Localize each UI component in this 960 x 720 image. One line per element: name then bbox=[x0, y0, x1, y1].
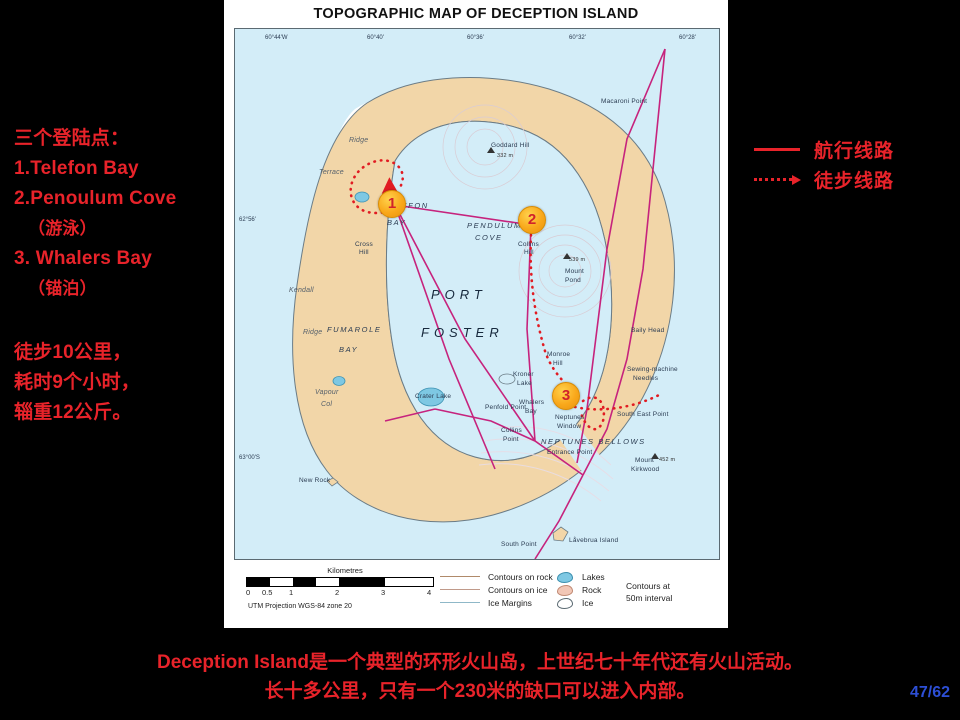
legend-label-hiking: 徒步线路 bbox=[814, 166, 894, 193]
ice-blob-icon bbox=[556, 597, 574, 608]
legend-entry-lakes: Lakes bbox=[556, 570, 605, 583]
map-panel: TOPOGRAPHIC MAP OF DECEPTION ISLAND bbox=[224, 0, 728, 628]
scale-tick-3: 2 bbox=[335, 588, 339, 597]
caption-line-1: Deception Island是一个典型的环形火山岛，上世纪七十年代还有火山活… bbox=[0, 648, 960, 677]
map-label: Hill bbox=[359, 249, 369, 256]
legend-row-hiking: 徒步线路 bbox=[752, 164, 952, 194]
map-label: South East Point bbox=[617, 411, 669, 418]
rock-blob-icon bbox=[556, 584, 574, 595]
legend-entry-ice: Ice bbox=[556, 596, 605, 609]
legend-label-contours-rock: Contours on rock bbox=[488, 572, 553, 582]
solid-line-icon bbox=[752, 142, 804, 156]
legend-label-sailing: 航行线路 bbox=[814, 136, 894, 163]
map-label: Collins bbox=[518, 241, 539, 248]
map-label: COVE bbox=[475, 233, 503, 242]
legend-label-ice-margins: Ice Margins bbox=[488, 598, 532, 608]
map-label: Col bbox=[321, 401, 332, 408]
map-label: Låvebrua Island bbox=[569, 537, 618, 544]
legend-label-lakes: Lakes bbox=[582, 572, 605, 582]
map-label: Hill bbox=[553, 360, 563, 367]
map-label: Window bbox=[557, 423, 581, 430]
legend-row-sailing: 航行线路 bbox=[752, 134, 952, 164]
scale-tick-4: 3 bbox=[381, 588, 385, 597]
landing-point-2: 2.Penoulum Cove bbox=[14, 184, 224, 214]
lon-tick-4: 60°28' bbox=[679, 35, 696, 41]
dotted-arrow-icon bbox=[752, 172, 804, 186]
map-label: Kirkwood bbox=[631, 466, 659, 473]
map-label: Mount bbox=[635, 457, 654, 464]
map-label: FUMAROLE bbox=[327, 325, 381, 334]
lon-tick-0: 60°44'W bbox=[265, 35, 288, 41]
lavebrua-island bbox=[553, 527, 568, 541]
contour-ice-line-icon bbox=[440, 589, 480, 590]
lat-tick-0: 62°56' bbox=[239, 217, 256, 223]
map-label: Goddard Hill bbox=[491, 142, 530, 149]
map-label: NEPTUNES BELLOWS bbox=[541, 437, 646, 446]
projection-note: UTM Projection WGS-84 zone 20 bbox=[246, 603, 436, 610]
scale-tick-1: 0.5 bbox=[262, 588, 272, 597]
map-label: Kroner bbox=[513, 371, 534, 378]
map-label: New Rock bbox=[299, 477, 330, 484]
map-label: Macaroni Point bbox=[601, 98, 647, 105]
trek-load: 辎重12公斤。 bbox=[14, 398, 224, 428]
vapour-col-lake bbox=[333, 377, 345, 386]
map-label: 452 m bbox=[659, 457, 675, 463]
landing-point-3: 3. Whalers Bay bbox=[14, 244, 224, 274]
legend-entry-contours-rock: Contours on rock bbox=[440, 570, 553, 583]
telefon-lake bbox=[355, 192, 369, 202]
map-label: Pond bbox=[565, 277, 581, 284]
map-label: Terrace bbox=[319, 169, 344, 176]
legend-label-contours-ice: Contours on ice bbox=[488, 585, 548, 595]
legend-entry-contours-ice: Contours on ice bbox=[440, 583, 553, 596]
landing-points-heading: 三个登陆点： bbox=[14, 124, 224, 154]
legend-symbol-entries: Lakes Rock Ice bbox=[556, 570, 605, 609]
map-legend: Kilometres 0 0.5 1 2 3 4 UTM Projection … bbox=[234, 562, 718, 624]
legend-label-rock: Rock bbox=[582, 585, 601, 595]
lon-tick-2: 60°36' bbox=[467, 35, 484, 41]
scale-tick-0: 0 bbox=[246, 588, 250, 597]
page-number: 47/62 bbox=[910, 684, 950, 702]
contour-note-line2: 50m interval bbox=[626, 592, 672, 604]
landing-marker-3[interactable]: 3 bbox=[552, 382, 580, 410]
map-frame: 60°44'W 60°40' 60°36' 60°32' 60°28' 62°5… bbox=[234, 28, 720, 560]
scale-bar-group: Kilometres 0 0.5 1 2 3 4 UTM Projection … bbox=[246, 566, 436, 610]
map-label: Bay bbox=[525, 408, 537, 415]
map-label: Penfold Point bbox=[485, 404, 526, 411]
map-label: Cross bbox=[355, 241, 373, 248]
map-label: Collins bbox=[501, 427, 522, 434]
landing-point-2-note: （游泳） bbox=[14, 214, 224, 244]
map-label: Vapour bbox=[315, 389, 339, 396]
map-label: Ridge bbox=[303, 329, 322, 336]
landing-marker-2[interactable]: 2 bbox=[518, 206, 546, 234]
trek-distance: 徒步10公里， bbox=[14, 338, 224, 368]
trek-duration: 耗时9个小时， bbox=[14, 368, 224, 398]
map-label: PORT bbox=[431, 287, 487, 302]
map-label: 539 m bbox=[569, 257, 585, 263]
map-label: PENDULUM bbox=[467, 221, 522, 230]
map-label: 332 m bbox=[497, 153, 513, 159]
notes-spacer bbox=[14, 304, 224, 338]
map-label: BAY bbox=[339, 345, 358, 354]
ice-margin-line-icon bbox=[440, 602, 480, 603]
lake-blob-icon bbox=[556, 571, 574, 582]
map-label: Sewing-machine bbox=[627, 366, 678, 373]
scale-bar bbox=[246, 577, 434, 587]
legend-entry-rock: Rock bbox=[556, 583, 605, 596]
lat-tick-1: 63°00'S bbox=[239, 455, 260, 461]
map-label: Entrance Point bbox=[547, 449, 592, 456]
map-label: South Point bbox=[501, 541, 537, 548]
landing-point-3-note: （锚泊） bbox=[14, 274, 224, 304]
lon-tick-1: 60°40' bbox=[367, 35, 384, 41]
legend-entry-ice-margins: Ice Margins bbox=[440, 596, 553, 609]
landing-points-notes: 三个登陆点： 1.Telefon Bay 2.Penoulum Cove （游泳… bbox=[14, 124, 224, 428]
scale-tick-5: 4 bbox=[427, 588, 431, 597]
landing-marker-1[interactable]: 1 bbox=[378, 190, 406, 218]
map-label: Lake bbox=[517, 380, 532, 387]
map-label: Crater Lake bbox=[415, 393, 451, 400]
contour-rock-line-icon bbox=[440, 576, 480, 577]
slide-caption: Deception Island是一个典型的环形火山岛，上世纪七十年代还有火山活… bbox=[0, 648, 960, 706]
legend-label-ice: Ice bbox=[582, 598, 593, 608]
map-label: FOSTER bbox=[421, 325, 504, 340]
map-label: Hill bbox=[524, 249, 534, 256]
contour-interval-note: Contours at 50m interval bbox=[626, 580, 672, 604]
scale-bar-title: Kilometres bbox=[246, 566, 436, 575]
lon-tick-3: 60°32' bbox=[569, 35, 586, 41]
map-title: TOPOGRAPHIC MAP OF DECEPTION ISLAND bbox=[224, 6, 728, 22]
scale-bar-ticks: 0 0.5 1 2 3 4 bbox=[246, 588, 440, 598]
map-label: Needles bbox=[633, 375, 658, 382]
route-legend: 航行线路 徒步线路 bbox=[752, 134, 952, 194]
landing-point-1: 1.Telefon Bay bbox=[14, 154, 224, 184]
scale-tick-2: 1 bbox=[289, 588, 293, 597]
contour-note-line1: Contours at bbox=[626, 580, 672, 592]
map-label: Monroe bbox=[547, 351, 570, 358]
map-label: Neptunes bbox=[555, 414, 584, 421]
map-label: Point bbox=[503, 436, 519, 443]
map-label: Kendall bbox=[289, 287, 314, 294]
map-label: Baily Head bbox=[631, 327, 664, 334]
caption-line-2: 长十多公里，只有一个230米的缺口可以进入内部。 bbox=[0, 677, 960, 706]
legend-line-entries: Contours on rock Contours on ice Ice Mar… bbox=[440, 570, 553, 609]
map-label: BAY bbox=[387, 218, 406, 227]
map-label: Ridge bbox=[349, 137, 368, 144]
map-label: Mount bbox=[565, 268, 584, 275]
